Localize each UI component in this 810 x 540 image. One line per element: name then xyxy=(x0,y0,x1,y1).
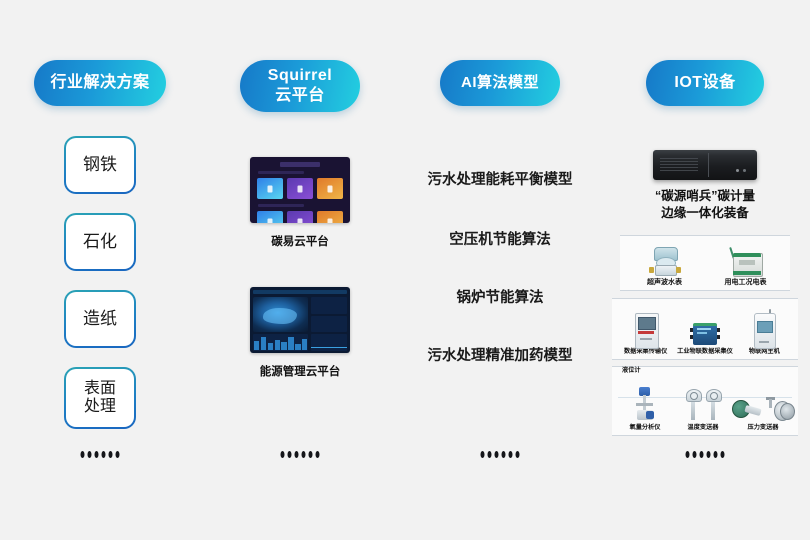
data-acquisition-transmitter-icon xyxy=(635,313,657,347)
industry-item-steel[interactable]: 钢铁 xyxy=(64,136,136,194)
industry-item-petrochemical[interactable]: 石化 xyxy=(64,213,136,271)
column-squirrel-cloud-platform: Squirrel 云平台 碳易云平台 xyxy=(200,0,400,540)
algorithm-item-wastewater-precise-dosing[interactable]: 污水处理精准加药模型 xyxy=(405,344,595,365)
pill-ai-algorithm-models[interactable]: AI算法模型 xyxy=(440,60,560,106)
device-label: 超声波水表 xyxy=(647,279,682,287)
diagram-canvas: 行业解决方案 钢铁 石化 造纸 表面 处理 Squirrel 云平台 xyxy=(0,0,810,540)
column-industry-solutions: 行业解决方案 钢铁 石化 造纸 表面 处理 xyxy=(0,0,200,540)
industry-item-surface-treatment[interactable]: 表面 处理 xyxy=(64,367,136,429)
dot xyxy=(102,451,106,458)
dot xyxy=(295,451,299,458)
more-dots-platforms xyxy=(281,451,320,458)
more-dots-algorithms xyxy=(481,451,520,458)
dot xyxy=(686,451,690,458)
algorithm-item-wastewater-energy-balance[interactable]: 污水处理能耗平衡模型 xyxy=(405,168,595,189)
device-label: 压力变送器 xyxy=(748,425,779,432)
iot-device-row-1: 超声波水表 用电工况电表 xyxy=(620,235,790,291)
pressure-transmitter-icon xyxy=(732,397,762,423)
dot xyxy=(700,451,704,458)
platform-carbon-cloud[interactable]: 碳易云平台 xyxy=(250,157,350,249)
dot xyxy=(116,451,120,458)
dot xyxy=(488,451,492,458)
device-pressure-transmitter[interactable]: 压力变送器 xyxy=(732,397,794,432)
dot xyxy=(309,451,313,458)
device-label: 数据采集传输仪 xyxy=(624,349,667,356)
iot-device-row-3: 氧量分析仪 温度变送器 xyxy=(612,366,798,436)
device-electric-power-meter[interactable]: 用电工况电表 xyxy=(705,247,786,287)
device-temperature-transmitter[interactable]: 温度变送器 xyxy=(674,389,732,432)
platform-caption-carbon-cloud: 碳易云平台 xyxy=(250,233,350,249)
rack-server-icon xyxy=(653,150,757,180)
temperature-transmitter-icon xyxy=(705,389,721,423)
algorithm-item-boiler-saving[interactable]: 锅炉节能算法 xyxy=(405,286,595,307)
device-label: 温度变送器 xyxy=(688,425,719,432)
ultrasonic-water-meter-icon xyxy=(652,247,678,277)
industrial-iot-collector-icon xyxy=(690,323,720,347)
dot xyxy=(95,451,99,458)
device-industrial-iot-collector[interactable]: 工业物联数据采集仪 xyxy=(675,323,734,356)
temperature-transmitter-icon xyxy=(685,389,701,423)
column-ai-algorithm-models: AI算法模型 污水处理能耗平衡模型 空压机节能算法 锅炉节能算法 污水处理精准加… xyxy=(400,0,600,540)
platform-caption-energy-management: 能源管理云平台 xyxy=(250,363,350,379)
device-label: 工业物联数据采集仪 xyxy=(677,349,733,356)
more-dots-iot xyxy=(686,451,725,458)
electric-power-meter-icon xyxy=(729,247,763,277)
device-label: 用电工况电表 xyxy=(725,279,767,287)
device-label-level-gauge: 液位计 xyxy=(622,365,641,433)
dot xyxy=(721,451,725,458)
dot xyxy=(316,451,320,458)
dot xyxy=(707,451,711,458)
iot-host-icon xyxy=(754,313,774,347)
platform-energy-management[interactable]: 能源管理云平台 xyxy=(250,287,350,379)
carbon-cloud-dashboard-screenshot xyxy=(250,157,350,223)
device-ultrasonic-water-meter[interactable]: 超声波水表 xyxy=(624,247,705,287)
dot xyxy=(481,451,485,458)
dot xyxy=(81,451,85,458)
dot xyxy=(88,451,92,458)
iot-device-row-2: 数据采集传输仪 工业物联数据采集仪 物联网主机 xyxy=(612,298,798,360)
industry-item-paper[interactable]: 造纸 xyxy=(64,290,136,348)
pill-iot-devices[interactable]: IOT设备 xyxy=(646,60,764,106)
flange-sensor-icon xyxy=(764,397,794,423)
pill-squirrel-cloud-platform[interactable]: Squirrel 云平台 xyxy=(240,60,360,112)
dot xyxy=(302,451,306,458)
dot xyxy=(516,451,520,458)
dot xyxy=(714,451,718,458)
iot-hero-device[interactable]: “碳源哨兵”碳计量 边缘一体化装备 xyxy=(620,150,790,222)
device-label: 物联网主机 xyxy=(749,349,780,356)
dot xyxy=(109,451,113,458)
dot xyxy=(288,451,292,458)
iot-hero-label: “碳源哨兵”碳计量 边缘一体化装备 xyxy=(620,188,790,222)
dot xyxy=(509,451,513,458)
pill-industry-solutions[interactable]: 行业解决方案 xyxy=(34,60,166,106)
energy-management-dashboard-screenshot xyxy=(250,287,350,353)
algorithm-item-air-compressor-saving[interactable]: 空压机节能算法 xyxy=(405,228,595,249)
column-iot-devices: IOT设备 “碳源哨兵”碳计量 边缘一体化装备 超声波水表 xyxy=(600,0,810,540)
device-iot-host[interactable]: 物联网主机 xyxy=(735,313,794,356)
dot xyxy=(281,451,285,458)
device-data-acquisition-transmitter[interactable]: 数据采集传输仪 xyxy=(616,313,675,356)
dot xyxy=(502,451,506,458)
more-dots-industry xyxy=(81,451,120,458)
dot xyxy=(693,451,697,458)
dot xyxy=(495,451,499,458)
